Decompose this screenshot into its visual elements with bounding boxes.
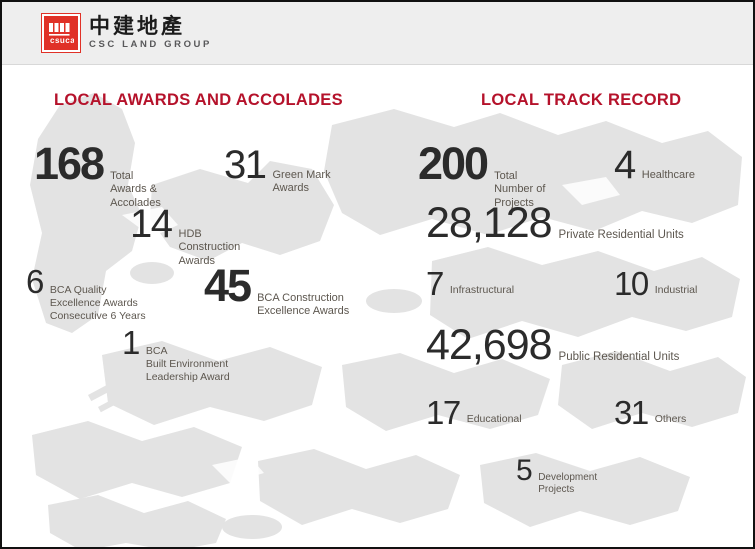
stat-value: 14 (130, 204, 172, 244)
stat-educational: 17 Educational (426, 396, 522, 429)
stat-label: Industrial (655, 284, 698, 297)
stat-value: 200 (418, 141, 487, 186)
stat-value: 5 (516, 456, 531, 486)
stat-green-mark-awards: 31 Green Mark Awards (224, 145, 331, 196)
stat-healthcare: 4 Healthcare (614, 145, 695, 185)
stat-label: Others (655, 413, 687, 426)
infographic-page: csuca 中建地產 CSC LAND GROUP (0, 0, 755, 549)
stat-value: 45 (204, 263, 250, 308)
stat-value: 31 (224, 145, 266, 185)
logo-wordmark: 中建地產 CSC LAND GROUP (89, 15, 212, 51)
stat-value: 1 (122, 326, 139, 359)
logo-name-en: CSC LAND GROUP (89, 39, 212, 51)
stat-label: Green Mark Awards (273, 169, 331, 196)
stat-bca-quality-excellence: 6 BCA Quality Excellence Awards Consecut… (26, 265, 146, 322)
stat-hdb-construction-awards: 14 HDB Construction Awards (130, 204, 240, 268)
stat-public-residential-units: 42,698 Public Residential Units (426, 324, 679, 367)
stat-value: 31 (614, 396, 648, 429)
stat-value: 168 (34, 141, 103, 186)
stat-label: BCA Construction Excellence Awards (257, 292, 349, 319)
stat-bca-construction-excellence: 45 BCA Construction Excellence Awards (204, 263, 349, 319)
stat-value: 6 (26, 265, 43, 298)
stat-label: Healthcare (642, 169, 695, 182)
company-logo: csuca 中建地產 CSC LAND GROUP (42, 14, 212, 52)
stat-label: Development Projects (538, 472, 597, 496)
stat-development-projects: 5 Development Projects (516, 456, 597, 496)
logo-name-cn: 中建地產 (89, 15, 212, 37)
stat-infrastructural: 7 Infrastructural (426, 267, 514, 300)
stat-value: 17 (426, 396, 460, 429)
stat-others: 31 Others (614, 396, 686, 429)
stat-label: Educational (467, 413, 522, 426)
section-title-local-track-record: LOCAL TRACK RECORD (481, 91, 681, 110)
stat-label: BCA Built Environment Leadership Award (146, 345, 230, 383)
stat-label: BCA Quality Excellence Awards Consecutiv… (50, 284, 146, 322)
header-band: csuca 中建地產 CSC LAND GROUP (2, 2, 753, 65)
stat-label: Public Residential Units (559, 350, 680, 364)
section-title-local-awards: LOCAL AWARDS AND ACCOLADES (54, 91, 343, 110)
stat-label: Private Residential Units (559, 228, 684, 242)
infographic-content: LOCAL AWARDS AND ACCOLADES LOCAL TRACK R… (2, 65, 755, 549)
stat-total-awards: 168 Total Awards & Accolades (34, 141, 161, 210)
stat-value: 10 (614, 267, 648, 300)
stat-bca-built-environment: 1 BCA Built Environment Leadership Award (122, 326, 230, 383)
stat-label: Infrastructural (450, 284, 514, 297)
svg-text:csuca: csuca (50, 36, 74, 45)
csc-logo-icon: csuca (42, 14, 80, 52)
stat-industrial: 10 Industrial (614, 267, 697, 300)
stat-value: 4 (614, 145, 635, 185)
stat-private-residential-units: 28,128 Private Residential Units (426, 202, 684, 245)
stat-value: 42,698 (426, 324, 552, 367)
stat-value: 7 (426, 267, 443, 300)
stat-value: 28,128 (426, 202, 552, 245)
